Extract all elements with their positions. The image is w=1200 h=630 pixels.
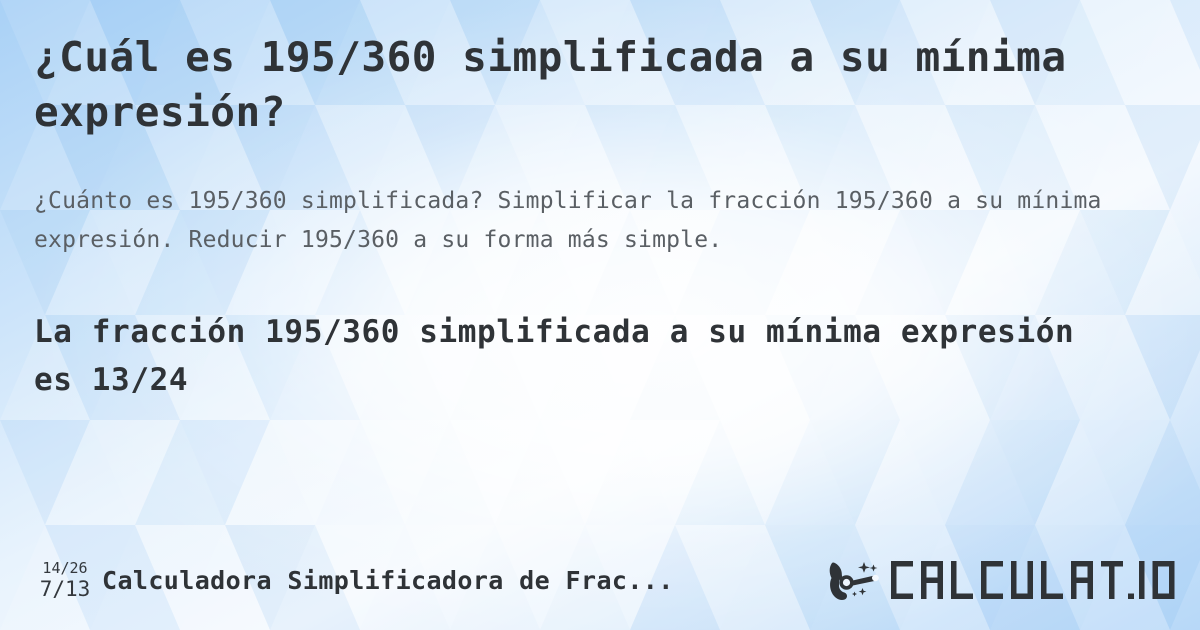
- fraction-simplify-icon: 14/26 7/13: [34, 561, 96, 600]
- site-title: Calculadora Simplificadora de Frac...: [102, 566, 674, 595]
- fraction-badge-simplified-example: 7/13: [40, 579, 91, 600]
- footer-bar: 14/26 7/13 Calculadora Simplificadora de…: [34, 554, 1178, 606]
- card-content: ¿Cuál es 195/360 simplificada a su mínim…: [0, 0, 1200, 630]
- social-preview-card: ¿Cuál es 195/360 simplificada a su mínim…: [0, 0, 1200, 630]
- brand-logo[interactable]: CALCULAT.IO: [826, 557, 1178, 603]
- magic-wand-hand-icon: [826, 557, 888, 603]
- fraction-badge-numerator-example: 14/26: [42, 561, 87, 576]
- brand-wordmark: CALCULAT.IO: [888, 558, 1178, 602]
- answer-text: La fracción 195/360 simplificada a su mí…: [34, 308, 1114, 404]
- description-text: ¿Cuánto es 195/360 simplificada? Simplif…: [34, 182, 1119, 260]
- description-block: ¿Cuánto es 195/360 simplificada? Simplif…: [34, 182, 1166, 260]
- answer-block: La fracción 195/360 simplificada a su mí…: [34, 308, 1166, 404]
- page-title: ¿Cuál es 195/360 simplificada a su mínim…: [34, 30, 1094, 140]
